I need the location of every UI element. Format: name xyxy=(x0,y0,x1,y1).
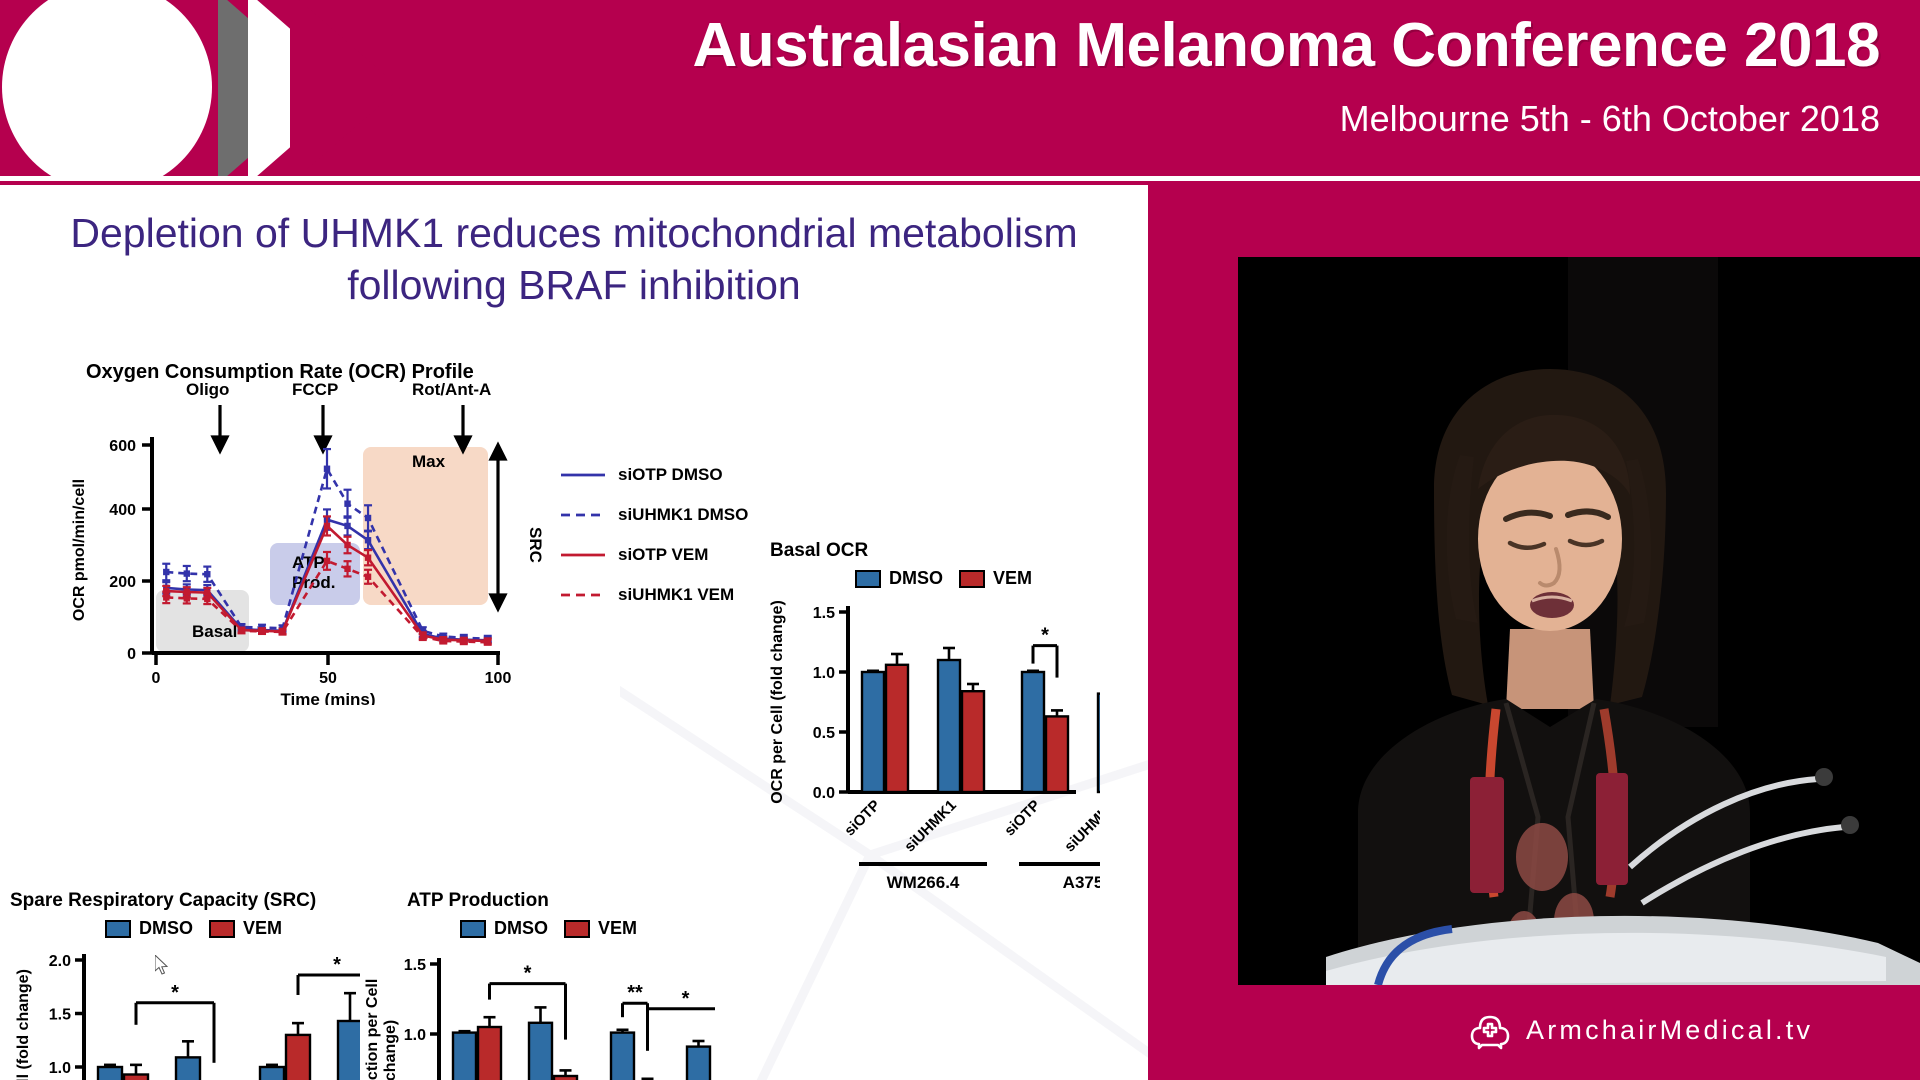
speaker-video-panel: ArmchairMedical.tv xyxy=(1148,185,1920,1080)
svg-text:siUHMK1: siUHMK1 xyxy=(901,797,960,856)
svg-text:2.0: 2.0 xyxy=(49,953,71,970)
legend-label-dmso: DMSO xyxy=(139,918,193,939)
legend-line-swatch xyxy=(560,549,606,561)
svg-text:1.0: 1.0 xyxy=(404,1027,426,1044)
legend-label-dmso: DMSO xyxy=(889,568,943,589)
svg-text:1.5: 1.5 xyxy=(49,1007,71,1024)
mouse-cursor xyxy=(155,955,171,977)
svg-text:50: 50 xyxy=(319,670,337,687)
legend-swatch-vem xyxy=(959,570,985,588)
svg-text:siOTP: siOTP xyxy=(841,797,884,840)
slide-title: Depletion of UHMK1 reduces mitochondrial… xyxy=(0,207,1148,312)
legend-label-vem: VEM xyxy=(243,918,282,939)
legend-label-vem: VEM xyxy=(598,918,637,939)
svg-text:ATP Production per Cell(fold c: ATP Production per Cell(fold change) xyxy=(364,979,399,1080)
legend-swatch-dmso xyxy=(105,920,131,938)
speaker-illustration xyxy=(1238,257,1920,985)
legend-label: siUHMK1 VEM xyxy=(618,585,734,605)
slide-content-area: Depletion of UHMK1 reduces mitochondrial… xyxy=(0,185,1148,1080)
conference-header-banner: Australasian Melanoma Conference 2018 Me… xyxy=(0,0,1920,176)
svg-text:0.0: 0.0 xyxy=(813,785,835,802)
svg-text:SRC: SRC xyxy=(526,527,545,563)
ocr-profile-legend: siOTP DMSOsiUHMK1 DMSOsiOTP VEMsiUHMK1 V… xyxy=(560,455,748,615)
svg-text:1.5: 1.5 xyxy=(813,605,835,622)
svg-text:0: 0 xyxy=(152,670,161,687)
svg-text:siUHMK1: siUHMK1 xyxy=(1061,797,1100,856)
legend-item: siOTP VEM xyxy=(560,535,748,575)
legend-swatch-dmso xyxy=(460,920,486,938)
svg-text:400: 400 xyxy=(109,502,136,519)
svg-text:SRC per Cell (fold change): SRC per Cell (fold change) xyxy=(15,969,32,1080)
svg-text:OCR per Cell (fold change): OCR per Cell (fold change) xyxy=(769,600,786,804)
svg-text:1.0: 1.0 xyxy=(49,1060,71,1077)
legend-line-swatch xyxy=(560,589,606,601)
page-title: Australasian Melanoma Conference 2018 xyxy=(692,10,1880,81)
svg-text:Time (mins): Time (mins) xyxy=(280,690,375,705)
svg-text:Max: Max xyxy=(412,452,446,471)
legend-label-vem: VEM xyxy=(993,568,1032,589)
legend-item: siUHMK1 DMSO xyxy=(560,495,748,535)
chart-title: Spare Respiratory Capacity (SRC) xyxy=(10,890,316,912)
svg-text:*: * xyxy=(1041,625,1049,647)
legend-line-swatch xyxy=(560,509,606,521)
svg-text:*: * xyxy=(524,963,532,985)
legend-swatch-vem xyxy=(564,920,590,938)
svg-text:WM266.4: WM266.4 xyxy=(887,873,960,892)
slide-title-line2: following BRAF inhibition xyxy=(347,262,801,308)
chart-title: ATP Production xyxy=(407,890,549,912)
svg-text:1.0: 1.0 xyxy=(813,665,835,682)
svg-text:**: ** xyxy=(627,982,643,1004)
svg-text:0: 0 xyxy=(127,646,136,663)
svg-text:A375: A375 xyxy=(1063,873,1100,892)
svg-text:600: 600 xyxy=(109,438,136,455)
svg-text:siOTP: siOTP xyxy=(1001,797,1044,840)
legend-label: siOTP VEM xyxy=(618,545,708,565)
legend-label: siOTP DMSO xyxy=(618,465,723,485)
branding-bar: ArmchairMedical.tv xyxy=(1148,985,1920,1080)
legend-line-swatch xyxy=(560,469,606,481)
svg-text:Basal: Basal xyxy=(192,622,237,641)
src-plot: 0.00.51.01.52.0siOTPsiUHMK1siOTPsiUHMK1W… xyxy=(10,942,360,1080)
chart-legend: DMSO VEM xyxy=(855,568,1032,589)
chevron-pink-shape xyxy=(290,0,400,176)
svg-text:*: * xyxy=(682,988,690,1010)
conference-logo xyxy=(0,0,420,176)
svg-text:100: 100 xyxy=(485,670,512,687)
svg-text:0.5: 0.5 xyxy=(813,725,835,742)
armchair-medical-icon xyxy=(1468,1011,1512,1055)
svg-text:200: 200 xyxy=(109,574,136,591)
legend-label-dmso: DMSO xyxy=(494,918,548,939)
chart-atp-production: ATP Production DMSO VEM 0.00.51.01.5siOT… xyxy=(355,890,715,1080)
slide-title-line1: Depletion of UHMK1 reduces mitochondrial… xyxy=(70,210,1077,256)
legend-swatch-vem xyxy=(209,920,235,938)
svg-text:1.5: 1.5 xyxy=(404,957,426,974)
chart-legend: DMSO VEM xyxy=(105,918,282,939)
chart-src: Spare Respiratory Capacity (SRC) DMSO VE… xyxy=(10,890,360,1080)
atp-plot: 0.00.51.01.5siOTPsiUHMK1siOTPsiUHMK1WM26… xyxy=(355,942,715,1080)
svg-text:OCR pmol/min/cell: OCR pmol/min/cell xyxy=(71,479,88,621)
svg-text:*: * xyxy=(333,954,341,976)
sun-logo-icon xyxy=(2,0,212,176)
legend-swatch-dmso xyxy=(855,570,881,588)
chart-basal-ocr: Basal OCR DMSO VEM 0.00.51.01.5siOTPsiUH… xyxy=(760,540,1100,870)
chart-title: Basal OCR xyxy=(770,540,868,562)
chart-title: Oxygen Consumption Rate (OCR) Profile xyxy=(86,361,474,384)
chart-legend: DMSO VEM xyxy=(460,918,637,939)
chart-ocr-profile: Oxygen Consumption Rate (OCR) Profile Ba… xyxy=(60,375,760,705)
legend-item: siOTP DMSO xyxy=(560,455,748,495)
legend-item: siUHMK1 VEM xyxy=(560,575,748,615)
basal-ocr-plot: 0.00.51.01.5siOTPsiUHMK1siOTPsiUHMK1WM26… xyxy=(760,592,1100,892)
branding-text: ArmchairMedical.tv xyxy=(1526,1015,1813,1046)
speaker-video[interactable] xyxy=(1238,257,1920,985)
svg-text:*: * xyxy=(171,982,179,1004)
page-subtitle: Melbourne 5th - 6th October 2018 xyxy=(1340,98,1880,140)
legend-label: siUHMK1 DMSO xyxy=(618,505,748,525)
